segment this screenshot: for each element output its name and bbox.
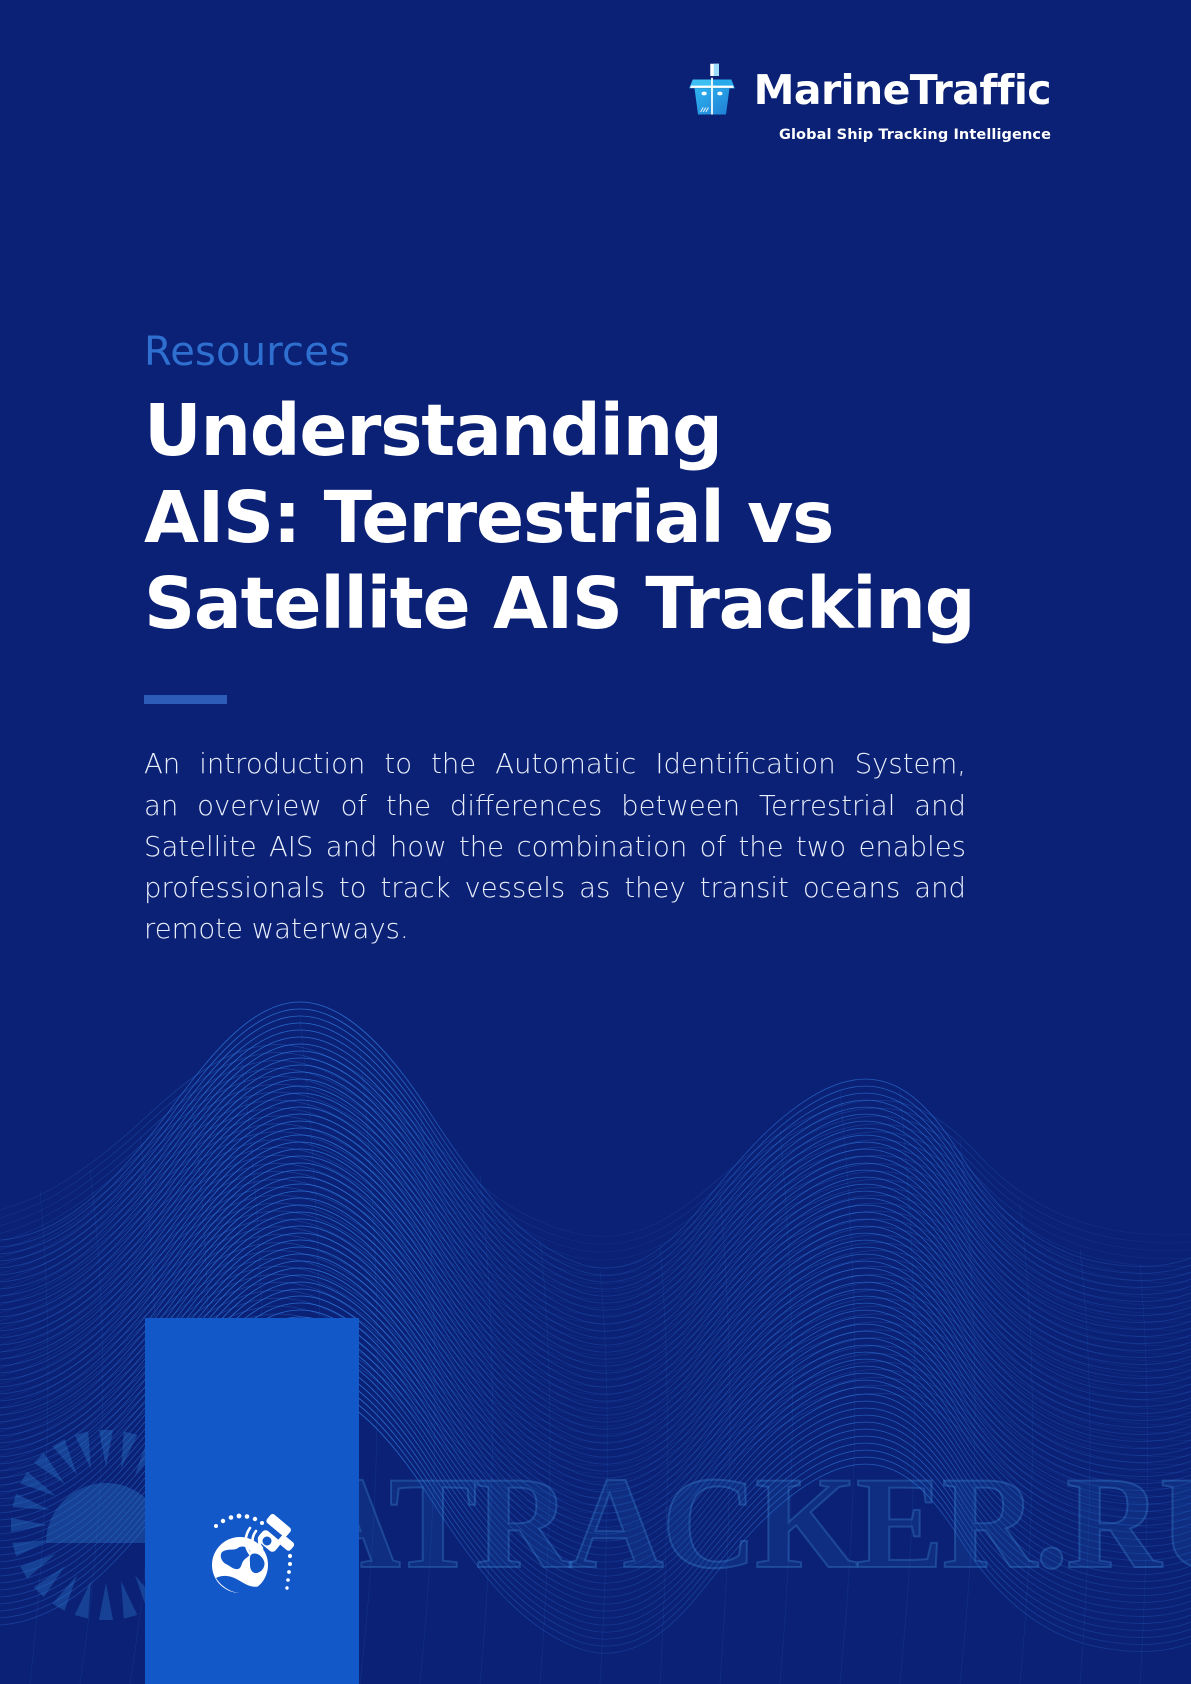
cover-page: SEATRACKER.RU [0, 0, 1191, 1684]
logo-tagline: Global Ship Tracking Intelligence [779, 127, 1051, 143]
description-line-4: professionals to track vessels as they t… [144, 868, 966, 909]
page-title: Understanding AIS: Terrestrial vs Satell… [144, 388, 974, 648]
marinetraffic-logo[interactable]: MarineTraffic Global Ship Tracking Intel… [684, 62, 1051, 143]
satellite-globe-icon [192, 1490, 312, 1610]
title-line-2: AIS: Terrestrial vs [144, 475, 974, 562]
cover-accent-panel [145, 1318, 359, 1684]
ship-logo-icon [684, 62, 740, 118]
description-line-2: an overview of the differences between T… [144, 786, 966, 827]
description-line-5: remote waterways. [144, 909, 966, 950]
title-divider [144, 695, 227, 704]
description-line-1: An introduction to the Automatic Identif… [144, 744, 966, 785]
cover-description: An introduction to the Automatic Identif… [144, 744, 966, 950]
description-line-3: Satellite AIS and how the combination of… [144, 827, 966, 868]
cover-hero: Resources Understanding AIS: Terrestrial… [144, 330, 974, 978]
eyebrow-label: Resources [144, 330, 974, 374]
title-line-1: Understanding [144, 388, 974, 475]
title-line-3: Satellite AIS Tracking [144, 561, 974, 648]
logo-wordmark: MarineTraffic [754, 70, 1051, 111]
